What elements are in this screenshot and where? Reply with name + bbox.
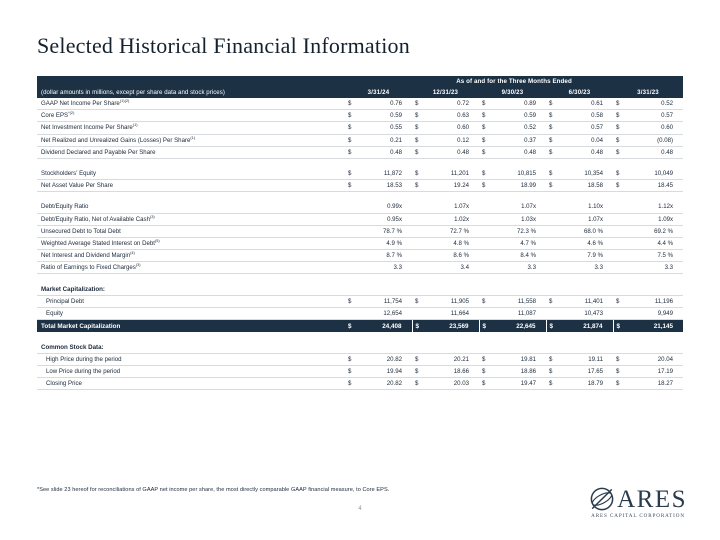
currency-symbol: $ [345, 180, 358, 192]
currency-symbol: $ [613, 378, 626, 390]
currency-symbol: $ [479, 134, 492, 146]
cell-value: 0.61 [559, 98, 613, 110]
currency-symbol: $ [345, 122, 358, 134]
cell-value: 1.02x [425, 213, 479, 225]
cell-value: 4.4 % [626, 237, 683, 249]
cell-value: 0.57 [626, 110, 683, 122]
currency-symbol [546, 201, 559, 213]
cell-value: 68.0 % [559, 225, 613, 237]
currency-symbol: $ [412, 180, 425, 192]
currency-symbol: $ [479, 168, 492, 180]
cell-value: 17.65 [559, 366, 613, 378]
cell-value: 0.95x [358, 213, 412, 225]
currency-symbol [412, 213, 425, 225]
table-row: Debt/Equity Ratio0.99x1.07x1.07x1.10x1.1… [37, 201, 683, 213]
column-header-2: 9/30/23 [479, 87, 546, 98]
currency-symbol [613, 250, 626, 262]
cell-value: 3.3 [492, 262, 546, 274]
currency-symbol: $ [412, 134, 425, 146]
cell-value: 7.5 % [626, 250, 683, 262]
cell-value: 3.3 [559, 262, 613, 274]
currency-symbol: $ [412, 110, 425, 122]
currency-symbol [345, 250, 358, 262]
ares-logo: ARES ARES CAPITAL CORPORATION [589, 486, 687, 519]
currency-symbol [479, 225, 492, 237]
currency-symbol: $ [345, 320, 358, 333]
cell-value: 10,815 [492, 168, 546, 180]
cell-value: 0.52 [492, 122, 546, 134]
page-title: Selected Historical Financial Informatio… [37, 33, 410, 59]
cell-value: 18.79 [559, 378, 613, 390]
section-heading-row: Common Stock Data: [37, 341, 683, 353]
currency-symbol: $ [613, 168, 626, 180]
row-label: Net Asset Value Per Share [37, 180, 345, 192]
row-label: Net Interest and Dividend Margin(4) [37, 250, 345, 262]
cell-value: 11,401 [559, 295, 613, 307]
row-label: Total Market Capitalization [37, 320, 345, 333]
currency-symbol [479, 262, 492, 274]
currency-symbol [345, 237, 358, 249]
row-label: Core EPS*(2) [37, 110, 345, 122]
row-label: Debt/Equity Ratio, Net of Available Cash… [37, 213, 345, 225]
currency-symbol [345, 262, 358, 274]
cell-value: 0.59 [492, 110, 546, 122]
currency-symbol: $ [412, 320, 425, 333]
row-spacer [37, 158, 683, 168]
currency-symbol: $ [412, 98, 425, 110]
cell-value: 0.48 [425, 146, 479, 158]
currency-symbol: $ [613, 353, 626, 365]
row-label: Debt/Equity Ratio [37, 201, 345, 213]
row-label: Dividend Declared and Payable Per Share [37, 146, 345, 158]
financial-table: As of and for the Three Months Ended (do… [37, 76, 683, 390]
currency-symbol [546, 213, 559, 225]
currency-symbol: $ [412, 168, 425, 180]
currency-symbol: $ [412, 353, 425, 365]
currency-symbol [345, 201, 358, 213]
cell-value: 19.24 [425, 180, 479, 192]
cell-value: 0.58 [559, 110, 613, 122]
currency-symbol [546, 262, 559, 274]
currency-symbol: $ [479, 320, 492, 333]
currency-symbol: $ [479, 122, 492, 134]
cell-value: 11,872 [358, 168, 412, 180]
currency-symbol: $ [345, 353, 358, 365]
table-row: Net Realized and Unrealized Gains (Losse… [37, 134, 683, 146]
cell-value: 8.7 % [358, 250, 412, 262]
cell-value: 11,905 [425, 295, 479, 307]
row-label: Stockholders' Equity [37, 168, 345, 180]
header-span-blank [37, 76, 345, 87]
cell-value: 8.6 % [425, 250, 479, 262]
currency-symbol: $ [412, 295, 425, 307]
cell-value: 11,087 [492, 308, 546, 320]
slide-canvas: Selected Historical Financial Informatio… [0, 0, 720, 540]
cell-value: 11,664 [425, 308, 479, 320]
cell-value: 10,049 [626, 168, 683, 180]
currency-symbol: $ [479, 146, 492, 158]
table-row: Unsecured Debt to Total Debt78.7 %72.7 %… [37, 225, 683, 237]
row-label: Weighted Average Stated Interest on Debt… [37, 237, 345, 249]
cell-value: 3.3 [358, 262, 412, 274]
cell-value: 9,949 [626, 308, 683, 320]
currency-symbol [546, 308, 559, 320]
cell-value: 1.07x [492, 201, 546, 213]
table-row: High Price during the period$20.82$20.21… [37, 353, 683, 365]
currency-symbol: $ [479, 295, 492, 307]
row-label: Unsecured Debt to Total Debt [37, 225, 345, 237]
cell-value: 20.82 [358, 353, 412, 365]
cell-value: 1.07x [425, 201, 479, 213]
currency-symbol [613, 308, 626, 320]
currency-symbol [546, 250, 559, 262]
row-label: Ratio of Earnings to Fixed Charges(3) [37, 262, 345, 274]
footnote: *See slide 23 hereof for reconciliations… [37, 487, 389, 493]
currency-symbol: $ [546, 134, 559, 146]
currency-symbol [613, 213, 626, 225]
logo-subtitle: ARES CAPITAL CORPORATION [591, 513, 685, 519]
currency-symbol: $ [613, 98, 626, 110]
cell-value: 0.52 [626, 98, 683, 110]
currency-symbol: $ [546, 180, 559, 192]
cell-value: 10,473 [559, 308, 613, 320]
table-header: As of and for the Three Months Ended (do… [37, 76, 683, 98]
currency-symbol: $ [613, 110, 626, 122]
currency-symbol: $ [613, 366, 626, 378]
currency-symbol: $ [613, 180, 626, 192]
currency-symbol [345, 308, 358, 320]
currency-symbol: $ [479, 180, 492, 192]
row-label: GAAP Net Income Per Share(1)(2) [37, 98, 345, 110]
row-label: High Price during the period [37, 353, 345, 365]
cell-value: 0.48 [358, 146, 412, 158]
cell-value: 11,201 [425, 168, 479, 180]
currency-symbol: $ [613, 146, 626, 158]
currency-symbol [613, 237, 626, 249]
cell-value: 19.94 [358, 366, 412, 378]
row-spacer [37, 192, 683, 202]
table-row: Net Interest and Dividend Margin(4)8.7 %… [37, 250, 683, 262]
table-row: Closing Price$20.82$20.03$19.47$18.79$18… [37, 378, 683, 390]
cell-value: 8.4 % [492, 250, 546, 262]
cell-value: 0.57 [559, 122, 613, 134]
cell-value: 21,145 [626, 320, 683, 333]
cell-value: 0.59 [358, 110, 412, 122]
cell-value: 18.53 [358, 180, 412, 192]
currency-symbol [613, 225, 626, 237]
cell-value: 18.27 [626, 378, 683, 390]
currency-symbol [412, 201, 425, 213]
currency-symbol: $ [345, 378, 358, 390]
cell-value: 19.11 [559, 353, 613, 365]
header-columns-row: (dollar amounts in millions, except per … [37, 87, 683, 98]
currency-symbol: $ [613, 295, 626, 307]
row-label: Closing Price [37, 378, 345, 390]
currency-symbol [412, 225, 425, 237]
cell-value: 0.76 [358, 98, 412, 110]
cell-value: 0.63 [425, 110, 479, 122]
cell-value: 72.7 % [425, 225, 479, 237]
cell-value: 19.81 [492, 353, 546, 365]
currency-symbol: $ [412, 366, 425, 378]
cell-value: 1.07x [559, 213, 613, 225]
cell-value: 0.37 [492, 134, 546, 146]
cell-value: (0.08) [626, 134, 683, 146]
currency-symbol [613, 262, 626, 274]
currency-symbol [345, 225, 358, 237]
cell-value: 0.60 [626, 122, 683, 134]
cell-value: 24,408 [358, 320, 412, 333]
table-row: Principal Debt$11,754$11,905$11,558$11,4… [37, 295, 683, 307]
currency-symbol: $ [546, 320, 559, 333]
currency-symbol: $ [479, 366, 492, 378]
table-body: GAAP Net Income Per Share(1)(2)$0.76$0.7… [37, 98, 683, 390]
currency-symbol: $ [546, 146, 559, 158]
table-row: Debt/Equity Ratio, Net of Available Cash… [37, 213, 683, 225]
table-row: Stockholders' Equity$11,872$11,201$10,81… [37, 168, 683, 180]
cell-value: 69.2 % [626, 225, 683, 237]
column-header-0: 3/31/24 [345, 87, 412, 98]
header-span-row: As of and for the Three Months Ended [37, 76, 683, 87]
column-header-4: 3/31/23 [613, 87, 683, 98]
table-row: Weighted Average Stated Interest on Debt… [37, 237, 683, 249]
section-heading-row: Market Capitalization: [37, 283, 683, 295]
currency-symbol: $ [479, 353, 492, 365]
currency-symbol: $ [479, 98, 492, 110]
cell-value: 18.99 [492, 180, 546, 192]
table-row: GAAP Net Income Per Share(1)(2)$0.76$0.7… [37, 98, 683, 110]
currency-symbol: $ [613, 320, 626, 333]
currency-symbol [546, 237, 559, 249]
total-row: Total Market Capitalization$24,408$23,56… [37, 320, 683, 333]
currency-symbol: $ [412, 146, 425, 158]
cell-value: 23,569 [425, 320, 479, 333]
cell-value: 7.9 % [559, 250, 613, 262]
cell-value: 1.12x [626, 201, 683, 213]
currency-symbol: $ [345, 168, 358, 180]
currency-symbol [479, 308, 492, 320]
cell-value: 4.9 % [358, 237, 412, 249]
cell-value: 20.82 [358, 378, 412, 390]
currency-symbol [412, 250, 425, 262]
cell-value: 20.04 [626, 353, 683, 365]
currency-symbol: $ [345, 146, 358, 158]
ares-circle-icon [589, 486, 615, 512]
currency-symbol [479, 237, 492, 249]
currency-symbol: $ [345, 366, 358, 378]
cell-value: 78.7 % [358, 225, 412, 237]
currency-symbol: $ [345, 98, 358, 110]
cell-value: 18.58 [559, 180, 613, 192]
cell-value: 21,874 [559, 320, 613, 333]
cell-value: 1.03x [492, 213, 546, 225]
cell-value: 11,558 [492, 295, 546, 307]
units-label: (dollar amounts in millions, except per … [37, 87, 345, 98]
row-label: Equity [37, 308, 345, 320]
cell-value: 17.19 [626, 366, 683, 378]
table-row: Net Asset Value Per Share$18.53$19.24$18… [37, 180, 683, 192]
currency-symbol: $ [546, 353, 559, 365]
currency-symbol [613, 201, 626, 213]
row-label: Principal Debt [37, 295, 345, 307]
cell-value: 0.48 [626, 146, 683, 158]
table-row: Low Price during the period$19.94$18.66$… [37, 366, 683, 378]
row-label: Low Price during the period [37, 366, 345, 378]
cell-value: 18.86 [492, 366, 546, 378]
cell-value: 22,645 [492, 320, 546, 333]
table-row: Core EPS*(2)$0.59$0.63$0.59$0.58$0.57 [37, 110, 683, 122]
cell-value: 0.48 [559, 146, 613, 158]
cell-value: 10,354 [559, 168, 613, 180]
currency-symbol [479, 250, 492, 262]
cell-value: 0.48 [492, 146, 546, 158]
currency-symbol [546, 225, 559, 237]
cell-value: 4.8 % [425, 237, 479, 249]
cell-value: 0.55 [358, 122, 412, 134]
currency-symbol: $ [479, 378, 492, 390]
section-heading: Market Capitalization: [37, 283, 345, 295]
currency-symbol [345, 213, 358, 225]
currency-symbol: $ [546, 98, 559, 110]
cell-value: 0.04 [559, 134, 613, 146]
logo-lockup: ARES [589, 486, 687, 512]
currency-symbol: $ [546, 378, 559, 390]
row-label: Net Investment Income Per Share(1) [37, 122, 345, 134]
row-spacer [37, 274, 683, 284]
cell-value: 0.89 [492, 98, 546, 110]
cell-value: 3.4 [425, 262, 479, 274]
cell-value: 1.10x [559, 201, 613, 213]
currency-symbol: $ [345, 134, 358, 146]
cell-value: 19.47 [492, 378, 546, 390]
cell-value: 11,754 [358, 295, 412, 307]
currency-symbol: $ [546, 110, 559, 122]
currency-symbol [412, 308, 425, 320]
column-header-3: 6/30/23 [546, 87, 613, 98]
cell-value: 0.60 [425, 122, 479, 134]
table-row: Net Investment Income Per Share(1)$0.55$… [37, 122, 683, 134]
row-spacer [37, 332, 683, 341]
cell-value: 20.21 [425, 353, 479, 365]
cell-value: 20.03 [425, 378, 479, 390]
currency-symbol: $ [345, 110, 358, 122]
cell-value: 11,196 [626, 295, 683, 307]
cell-value: 4.6 % [559, 237, 613, 249]
header-span-label: As of and for the Three Months Ended [345, 76, 683, 87]
cell-value: 0.99x [358, 201, 412, 213]
cell-value: 0.72 [425, 98, 479, 110]
table-row: Dividend Declared and Payable Per Share$… [37, 146, 683, 158]
cell-value: 18.45 [626, 180, 683, 192]
currency-symbol: $ [546, 295, 559, 307]
column-header-1: 12/31/23 [412, 87, 479, 98]
cell-value: 0.21 [358, 134, 412, 146]
cell-value: 1.09x [626, 213, 683, 225]
row-label: Net Realized and Unrealized Gains (Losse… [37, 134, 345, 146]
currency-symbol: $ [412, 122, 425, 134]
cell-value: 18.66 [425, 366, 479, 378]
currency-symbol [479, 213, 492, 225]
cell-value: 3.3 [626, 262, 683, 274]
currency-symbol [412, 262, 425, 274]
cell-value: 72.3 % [492, 225, 546, 237]
section-heading: Common Stock Data: [37, 341, 345, 353]
currency-symbol [412, 237, 425, 249]
table-row: Equity12,65411,66411,08710,4739,949 [37, 308, 683, 320]
currency-symbol [479, 201, 492, 213]
currency-symbol: $ [546, 168, 559, 180]
currency-symbol: $ [546, 122, 559, 134]
cell-value: 12,654 [358, 308, 412, 320]
currency-symbol: $ [479, 110, 492, 122]
currency-symbol: $ [613, 134, 626, 146]
logo-wordmark: ARES [617, 487, 687, 512]
cell-value: 4.7 % [492, 237, 546, 249]
table-row: Ratio of Earnings to Fixed Charges(3)3.3… [37, 262, 683, 274]
currency-symbol: $ [345, 295, 358, 307]
currency-symbol: $ [546, 366, 559, 378]
currency-symbol: $ [613, 122, 626, 134]
cell-value: 0.12 [425, 134, 479, 146]
currency-symbol: $ [412, 378, 425, 390]
